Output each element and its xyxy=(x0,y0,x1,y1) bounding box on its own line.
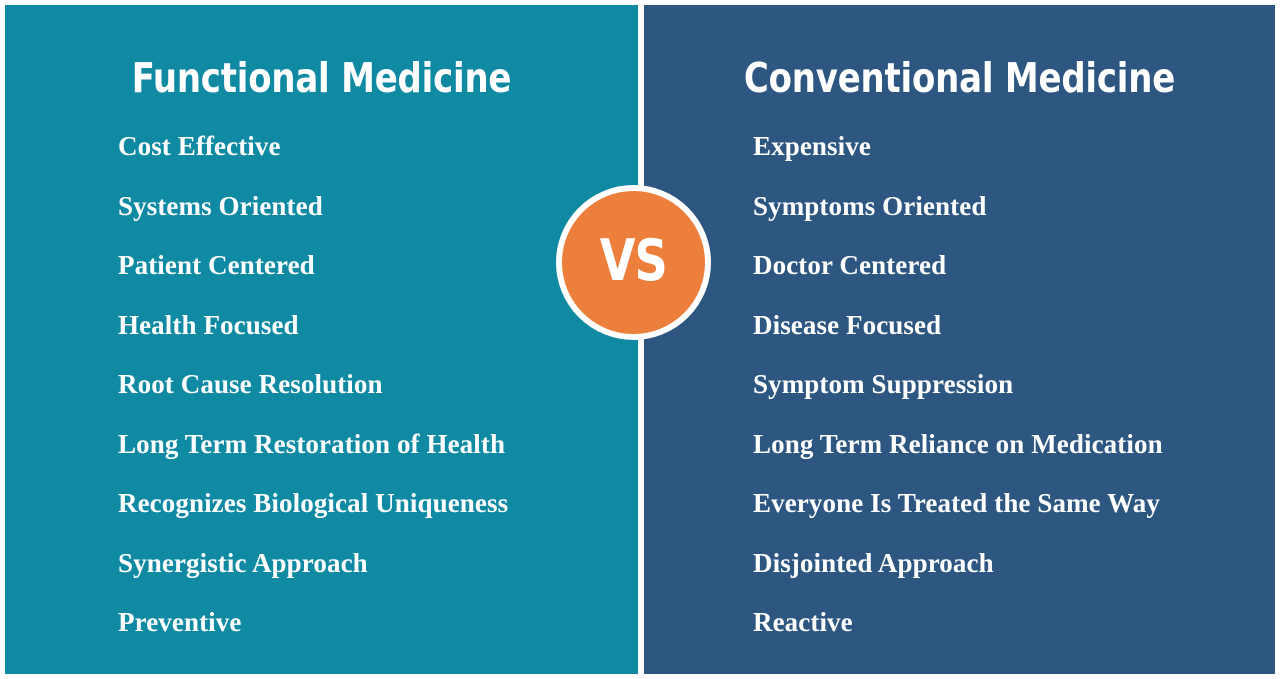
list-item: Root Cause Resolution xyxy=(118,363,508,423)
list-item: Disjointed Approach xyxy=(753,542,1163,602)
feature-list-functional-medicine: Cost Effective Systems Oriented Patient … xyxy=(118,125,508,661)
list-item: Symptoms Oriented xyxy=(753,185,1163,245)
list-item: Everyone Is Treated the Same Way xyxy=(753,482,1163,542)
list-item: Disease Focused xyxy=(753,304,1163,364)
list-item: Long Term Restoration of Health xyxy=(118,423,508,483)
list-item: Long Term Reliance on Medication xyxy=(753,423,1163,483)
panel-functional-medicine: Functional Medicine Cost Effective Syste… xyxy=(5,5,638,674)
panel-title-functional-medicine: Functional Medicine xyxy=(30,53,612,103)
list-item: Patient Centered xyxy=(118,244,508,304)
list-item: Doctor Centered xyxy=(753,244,1163,304)
vs-badge: VS xyxy=(556,185,711,340)
panel-title-conventional-medicine: Conventional Medicine xyxy=(669,53,1250,103)
feature-list-conventional-medicine: Expensive Symptoms Oriented Doctor Cente… xyxy=(753,125,1163,661)
comparison-infographic: Functional Medicine Cost Effective Syste… xyxy=(0,0,1280,679)
vs-badge-label: VS xyxy=(600,233,667,290)
list-item: Expensive xyxy=(753,125,1163,185)
list-item: Systems Oriented xyxy=(118,185,508,245)
list-item: Recognizes Biological Uniqueness xyxy=(118,482,508,542)
list-item: Health Focused xyxy=(118,304,508,364)
list-item: Symptom Suppression xyxy=(753,363,1163,423)
list-item: Preventive xyxy=(118,601,508,661)
list-item: Reactive xyxy=(753,601,1163,661)
panel-conventional-medicine: Conventional Medicine Expensive Symptoms… xyxy=(644,5,1275,674)
list-item: Synergistic Approach xyxy=(118,542,508,602)
list-item: Cost Effective xyxy=(118,125,508,185)
